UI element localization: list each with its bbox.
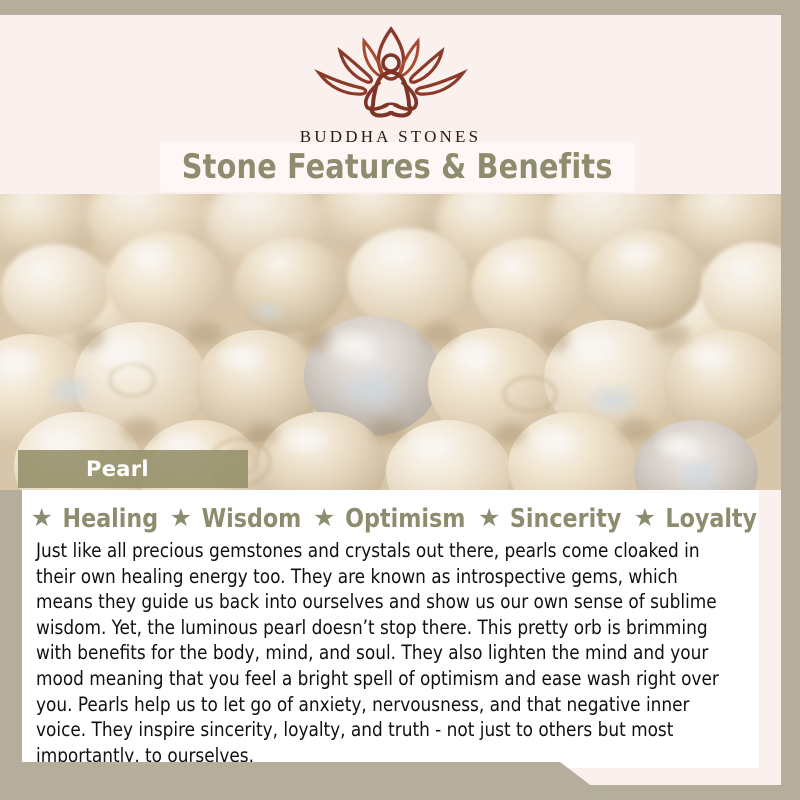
keyword-healing: Healing — [62, 504, 158, 534]
top-frame-border — [0, 0, 800, 15]
star-icon: ★ — [313, 506, 335, 531]
star-icon: ★ — [634, 506, 656, 531]
left-frame-strip — [0, 490, 22, 762]
keyword-optimism: Optimism — [346, 504, 466, 534]
star-icon: ★ — [478, 506, 500, 531]
infographic-card: BUDDHA STONES Stone Features & Benefits — [0, 0, 800, 800]
right-frame-border — [781, 0, 800, 800]
keyword-list: ★ Healing ★ Wisdom ★ Optimism ★ Sincerit… — [22, 490, 759, 534]
bottom-frame-band — [0, 762, 610, 800]
star-icon: ★ — [170, 506, 192, 531]
content-panel: ★ Healing ★ Wisdom ★ Optimism ★ Sincerit… — [22, 490, 759, 768]
lotus-meditation-icon — [307, 21, 475, 121]
brand-logo — [0, 21, 781, 121]
keyword-sincerity: Sincerity — [510, 504, 621, 534]
star-icon: ★ — [31, 506, 53, 531]
title-banner: Stone Features & Benefits — [160, 142, 635, 192]
keyword-wisdom: Wisdom — [202, 504, 302, 534]
stone-name-tag: Pearl — [18, 450, 248, 488]
description-text: Just like all precious gemstones and cry… — [36, 538, 724, 768]
pearls-photo — [0, 194, 781, 490]
keyword-loyalty: Loyalty — [665, 504, 757, 534]
header: BUDDHA STONES — [0, 15, 781, 140]
stone-name: Pearl — [86, 457, 149, 481]
page-title: Stone Features & Benefits — [182, 147, 613, 187]
